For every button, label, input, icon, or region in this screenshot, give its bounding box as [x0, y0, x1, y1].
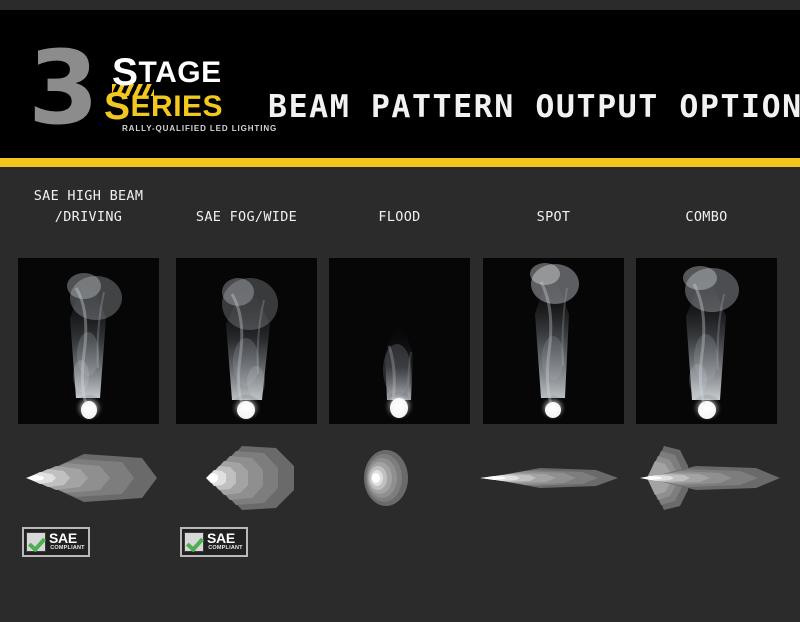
beam-photo-sae-fog-wide	[176, 258, 317, 424]
column-label: SAE HIGH BEAM /DRIVING	[18, 186, 159, 234]
accent-divider	[0, 158, 800, 167]
logo-tagline: RALLY-QUALIFIED LED LIGHTING	[122, 124, 277, 133]
photo-render	[176, 258, 317, 424]
column-sae-high-beam-driving: SAE HIGH BEAM /DRIVING	[18, 186, 159, 234]
brand-logo: 3 STAGE SERIES RALLY-QUALIFIED LED LIGHT…	[28, 36, 250, 140]
column-flood: FLOOD	[329, 186, 470, 255]
column-combo: COMBO	[636, 186, 777, 255]
column-label: SAE FOG/WIDE	[176, 186, 317, 255]
logo-word-series: SERIES	[104, 92, 223, 122]
column-sae-fog-wide: SAE FOG/WIDE	[176, 186, 317, 255]
badge-sub-label: COMPLIANT	[207, 545, 244, 552]
beam-diagram-spot	[478, 442, 653, 514]
badge-main-label: SAE	[49, 532, 86, 545]
beam-diagram-sae-high-beam-driving	[14, 442, 189, 514]
column-label: COMBO	[636, 186, 777, 255]
page-title: BEAM PATTERN OUTPUT OPTIONS	[268, 90, 800, 124]
check-icon	[184, 532, 204, 552]
badge-inner: SAE COMPLIANT	[24, 529, 88, 555]
check-icon	[26, 532, 46, 552]
badge-inner: SAE COMPLIANT	[182, 529, 246, 555]
beam-diagram-combo	[630, 442, 800, 514]
header-band: 3 STAGE SERIES RALLY-QUALIFIED LED LIGHT…	[0, 10, 800, 158]
beam-diagram-sae-fog-wide	[190, 442, 365, 514]
sae-compliant-badge-fog-wide: SAE COMPLIANT	[180, 527, 248, 557]
beam-photo-combo	[636, 258, 777, 424]
logo-word-series-text: SERIES	[104, 90, 223, 123]
beam-pattern-infographic: 3 STAGE SERIES RALLY-QUALIFIED LED LIGHT…	[0, 0, 800, 622]
logo-numeral: 3	[28, 38, 95, 140]
beam-photo-spot	[483, 258, 624, 424]
badge-sub-label: COMPLIANT	[49, 545, 86, 552]
beam-shape	[352, 442, 462, 514]
sae-compliant-badge-high-beam-driving: SAE COMPLIANT	[22, 527, 90, 557]
column-spot: SPOT	[483, 186, 624, 255]
column-label: FLOOD	[329, 186, 470, 255]
photo-render	[329, 258, 470, 424]
badge-text: SAE COMPLIANT	[49, 532, 86, 552]
logo-word-stage: STAGE	[112, 58, 222, 88]
beam-shape	[630, 442, 795, 514]
beam-shape	[478, 442, 638, 514]
badge-text: SAE COMPLIANT	[207, 532, 244, 552]
beam-photo-sae-high-beam-driving	[18, 258, 159, 424]
badge-main-label: SAE	[207, 532, 244, 545]
column-label: SPOT	[483, 186, 624, 255]
beam-shape	[190, 442, 320, 514]
photo-render	[483, 258, 624, 424]
beam-shape	[14, 442, 174, 514]
photo-render	[636, 258, 777, 424]
beam-photo-flood	[329, 258, 470, 424]
photo-render	[18, 258, 159, 424]
